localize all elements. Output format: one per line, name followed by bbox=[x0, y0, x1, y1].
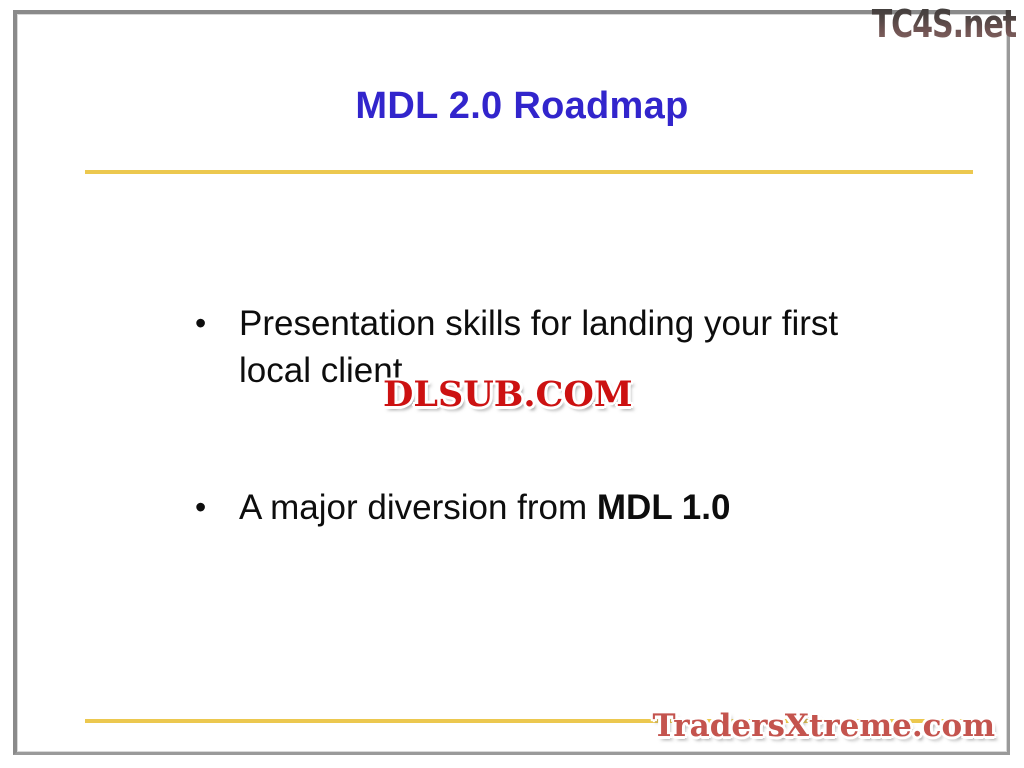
list-item-text: A major diversion from MDL 1.0 bbox=[239, 484, 889, 531]
watermark-dlsub: DLSUB.COM bbox=[383, 374, 633, 415]
list-item: • A major diversion from MDL 1.0 bbox=[187, 484, 927, 531]
bullet-point-icon: • bbox=[187, 484, 239, 531]
list-item-text-plain: A major diversion from bbox=[239, 488, 597, 527]
bullet-list: • Presentation skills for landing your f… bbox=[187, 300, 927, 531]
watermark-tc4s: TC4S.net bbox=[872, 2, 1016, 46]
page-title: MDL 2.0 Roadmap bbox=[72, 86, 972, 128]
list-item-text-emphasis: MDL 1.0 bbox=[597, 488, 731, 527]
watermark-tradersxtreme: TradersXtreme.com bbox=[652, 708, 995, 744]
bullet-point-icon: • bbox=[187, 300, 239, 347]
top-divider bbox=[85, 170, 973, 174]
slide-canvas: MDL 2.0 Roadmap • Presentation skills fo… bbox=[13, 10, 1010, 755]
